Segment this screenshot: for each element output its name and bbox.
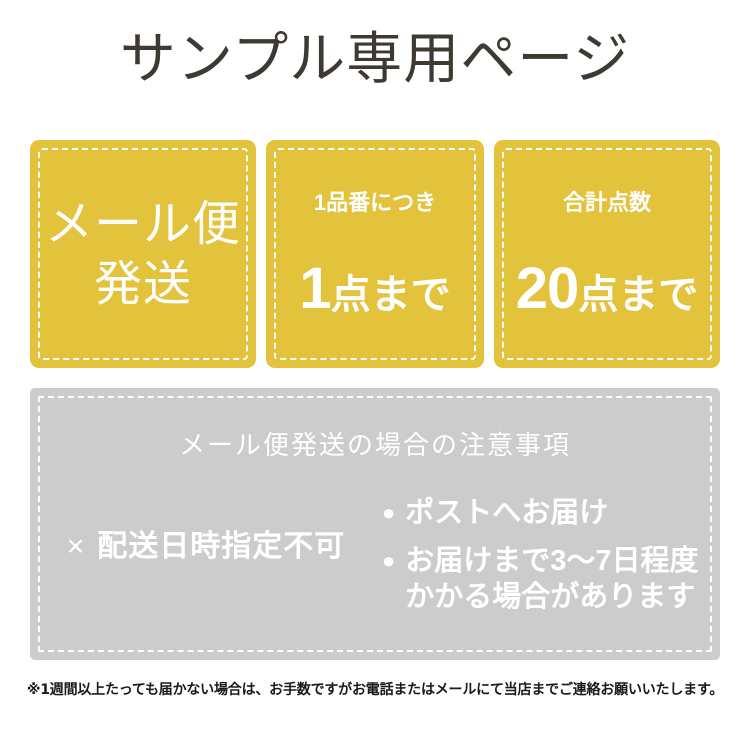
card-per-item-limit-value: 1 点まで (299, 260, 450, 318)
sample-shipping-banner: サンプル専用ページ メール便 発送 1品番につき 1 点まで (0, 0, 750, 750)
card-total-limit: 合計点数 20 点まで (494, 140, 720, 368)
list-item: ● お届けまで3〜7日程度 かかる場合があります (382, 543, 720, 615)
list-item-text: お届けまで3〜7日程度 かかる場合があります (405, 543, 698, 615)
card-total-limit-value: 20 点まで (516, 260, 699, 318)
notice-body: ×配送日時指定不可 ● ポストへお届け ● お届けまで3〜7日程度 かかる場合が… (30, 493, 720, 643)
notice-restriction-text: ×配送日時指定不可 (67, 529, 346, 565)
list-item-text: ポストへお届け (405, 495, 608, 531)
page-title: サンプル専用ページ (0, 26, 750, 94)
notice-heading: メール便発送の場合の注意事項 (30, 430, 720, 462)
notice-bullet-list: ● ポストへお届け ● お届けまで3〜7日程度 かかる場合があります (382, 493, 720, 627)
bullet-dot-icon: ● (382, 543, 395, 579)
card-per-item-limit-caption: 1品番につき (314, 190, 436, 216)
cross-mark-icon: × (67, 530, 86, 563)
card-total-limit-content: 合計点数 20 点まで (494, 190, 720, 318)
card-shipping-method-line1: メール便 (45, 194, 241, 254)
list-item-line1: お届けまで3〜7日程度 (405, 545, 698, 577)
info-card-row: メール便 発送 1品番につき 1 点まで 合計点数 20 点まで (30, 140, 720, 368)
card-per-item-limit-number: 1 (299, 260, 330, 318)
notice-panel: メール便発送の場合の注意事項 ×配送日時指定不可 ● ポストへお届け ● (30, 388, 720, 660)
card-per-item-limit: 1品番につき 1 点まで (266, 140, 484, 368)
card-shipping-method: メール便 発送 (30, 140, 256, 368)
notice-restriction-label: 配送日時指定不可 (97, 530, 345, 563)
footer-note: ※1週間以上たっても届かない場合は、お手数ですがお電話またはメールにて当店までご… (0, 680, 750, 700)
card-total-limit-caption: 合計点数 (563, 190, 651, 216)
card-shipping-method-line2: 発送 (94, 254, 192, 314)
card-shipping-method-content: メール便 発送 (30, 194, 256, 314)
notice-restriction: ×配送日時指定不可 (30, 493, 382, 565)
list-item: ● ポストへお届け (382, 495, 720, 531)
card-total-limit-number: 20 (516, 260, 579, 318)
bullet-dot-icon: ● (382, 495, 395, 531)
card-total-limit-unit: 点まで (578, 275, 698, 315)
card-per-item-limit-unit: 点まで (331, 275, 451, 315)
list-item-line2: かかる場合があります (405, 579, 698, 615)
list-item-line1: ポストへお届け (405, 497, 608, 529)
card-per-item-limit-content: 1品番につき 1 点まで (266, 190, 484, 318)
